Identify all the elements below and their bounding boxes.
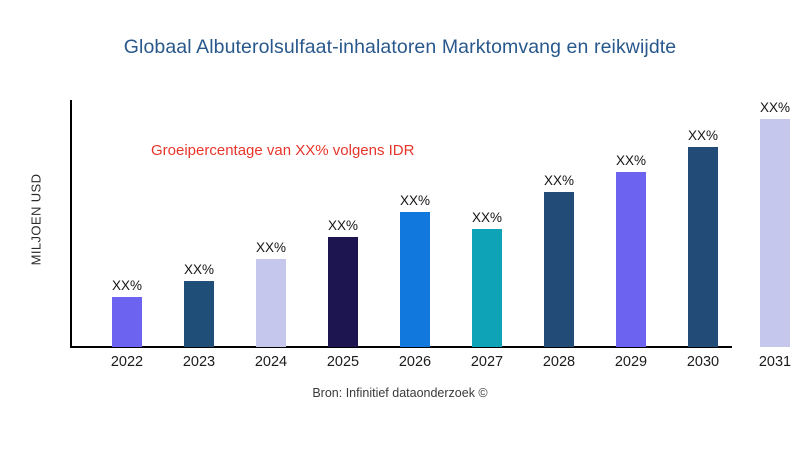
x-tick-label-2022: 2022 bbox=[94, 354, 160, 370]
bar-value-label: XX% bbox=[598, 153, 664, 168]
bar-value-label: XX% bbox=[94, 278, 160, 293]
bar-value-label: XX% bbox=[670, 128, 736, 143]
bar-group: XX% bbox=[760, 119, 790, 347]
bar-group: XX% bbox=[544, 192, 574, 347]
bar-2027[interactable] bbox=[472, 229, 502, 347]
bar-value-label: XX% bbox=[382, 193, 448, 208]
bar-value-label: XX% bbox=[166, 262, 232, 277]
bar-2029[interactable] bbox=[616, 172, 646, 347]
bar-group: XX% bbox=[328, 237, 358, 347]
bar-group: XX% bbox=[688, 147, 718, 347]
bar-2023[interactable] bbox=[184, 281, 214, 347]
bar-2022[interactable] bbox=[112, 297, 142, 347]
x-tick-label-2028: 2028 bbox=[526, 354, 592, 370]
x-tick-label-2029: 2029 bbox=[598, 354, 664, 370]
x-tick-label-2027: 2027 bbox=[454, 354, 520, 370]
bar-2026[interactable] bbox=[400, 212, 430, 347]
chart-container: Globaal Albuterolsulfaat-inhalatoren Mar… bbox=[0, 0, 800, 450]
bar-group: XX% bbox=[184, 281, 214, 347]
bar-value-label: XX% bbox=[238, 240, 304, 255]
chart-title: Globaal Albuterolsulfaat-inhalatoren Mar… bbox=[0, 36, 800, 59]
bar-value-label: XX% bbox=[526, 173, 592, 188]
bar-2028[interactable] bbox=[544, 192, 574, 347]
y-axis-label: MILJOEN USD bbox=[29, 110, 44, 330]
x-tick-label-2026: 2026 bbox=[382, 354, 448, 370]
x-tick-label-2024: 2024 bbox=[238, 354, 304, 370]
bar-2031[interactable] bbox=[760, 119, 790, 347]
bar-2024[interactable] bbox=[256, 259, 286, 347]
bar-2030[interactable] bbox=[688, 147, 718, 347]
bar-group: XX% bbox=[616, 172, 646, 347]
x-tick-label-2023: 2023 bbox=[166, 354, 232, 370]
plot-area: XX%XX%XX%XX%XX%XX%XX%XX%XX%XX% bbox=[70, 100, 800, 347]
bar-group: XX% bbox=[400, 212, 430, 347]
bar-value-label: XX% bbox=[310, 218, 376, 233]
bar-group: XX% bbox=[112, 297, 142, 347]
x-tick-label-2030: 2030 bbox=[670, 354, 736, 370]
x-tick-label-2031: 2031 bbox=[742, 354, 800, 370]
bar-value-label: XX% bbox=[454, 210, 520, 225]
bar-group: XX% bbox=[256, 259, 286, 347]
source-note: Bron: Infinitief dataonderzoek © bbox=[0, 386, 800, 400]
x-tick-label-2025: 2025 bbox=[310, 354, 376, 370]
bar-2025[interactable] bbox=[328, 237, 358, 347]
bar-group: XX% bbox=[472, 229, 502, 347]
bar-value-label: XX% bbox=[742, 100, 800, 115]
